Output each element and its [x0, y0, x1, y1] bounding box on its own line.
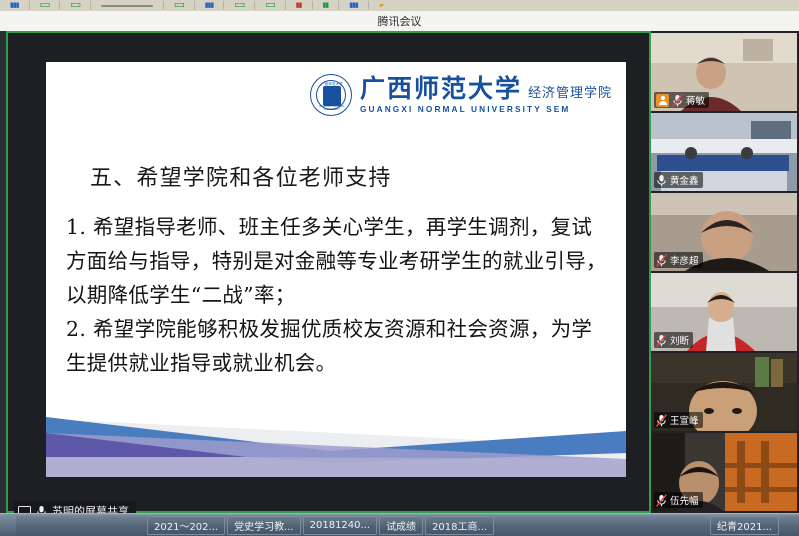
- microphone-muted-icon: [656, 414, 667, 427]
- slide-body: 1. 希望指导老师、班主任多关心学生，再学生调剂，复试方面给与指导，特别是对金融…: [66, 210, 612, 380]
- window-titlebar: 腾讯会议: [0, 11, 799, 31]
- participant-tile[interactable]: 黄金鑫: [651, 113, 797, 191]
- participant-tile[interactable]: 王宣峰: [651, 353, 797, 431]
- participant-tile[interactable]: 蒋敏: [651, 33, 797, 111]
- participant-name: 蒋敏: [686, 93, 705, 107]
- participant-nameplate: 黄金鑫: [654, 172, 703, 188]
- windows-taskbar: 2021～202... 党史学习教... 20181240... 试成绩 201…: [0, 513, 799, 536]
- participant-name: 刘断: [670, 333, 689, 347]
- participant-name: 李彦超: [670, 253, 699, 267]
- excel-icon[interactable]: ⊏⊐: [70, 0, 80, 11]
- screen-share-indicator[interactable]: 苏明的屏幕共享: [14, 501, 136, 513]
- taskbar-item[interactable]: 2018工商...: [425, 516, 494, 535]
- logo-university-name: 广西师范大学: [360, 76, 522, 102]
- taskbar-item[interactable]: 试成绩: [379, 516, 423, 535]
- shared-screen-stage[interactable]: 广西师范大学 GUANGXI NORMAL UNIVERSITY 广西师范大学 …: [6, 31, 651, 513]
- logo-english-name: GUANGXI NORMAL UNIVERSITY SEM: [360, 104, 612, 114]
- app-title: 腾讯会议: [378, 13, 422, 29]
- participant-nameplate: 蒋敏: [654, 92, 709, 108]
- microphone-muted-icon: [672, 94, 683, 107]
- slide-paragraph-1: 1. 希望指导老师、班主任多关心学生，再学生调剂，复试方面给与指导，特别是对金融…: [66, 210, 612, 312]
- participant-nameplate: 李彦超: [654, 252, 703, 268]
- crest-bottom-text: GUANGXI NORMAL UNIVERSITY: [315, 105, 349, 111]
- participant-nameplate: 王宣峰: [654, 412, 703, 428]
- excel-icon[interactable]: ⊏⊐: [174, 0, 184, 11]
- start-button[interactable]: [0, 515, 16, 536]
- chart-icon[interactable]: ▮▮▮: [205, 0, 214, 11]
- microphone-muted-icon: [656, 334, 667, 347]
- university-logo: 广西师范大学 GUANGXI NORMAL UNIVERSITY 广西师范大学 …: [310, 74, 612, 116]
- microphone-muted-icon: [656, 254, 667, 267]
- slide-paragraph-2: 2. 希望学院能够积极发掘优质校友资源和社会资源，为学生提供就业指导或就业机会。: [66, 312, 612, 380]
- background-app-toolbar: ▮▮▮ ⊏⊐ ⊏⊐ ⊏⊐ ▮▮▮ ⊏⊐ ⊏⊐ ▮▮ ▮▮ ▮▮▮ ▰: [0, 0, 799, 11]
- taskbar-item[interactable]: 2021～202...: [147, 516, 225, 535]
- microphone-icon: [656, 174, 667, 187]
- participant-tile[interactable]: 伍先幅: [651, 433, 797, 511]
- screen: ▮▮▮ ⊏⊐ ⊏⊐ ⊏⊐ ▮▮▮ ⊏⊐ ⊏⊐ ▮▮ ▮▮ ▮▮▮ ▰ 腾讯会议: [0, 0, 799, 536]
- screen-share-label: 苏明的屏幕共享: [52, 503, 129, 513]
- taskbar-item[interactable]: 党史学习教...: [227, 516, 301, 535]
- slide-footer-decoration: [46, 393, 626, 477]
- chart-icon[interactable]: ▮▮▮: [349, 0, 358, 11]
- participant-tile[interactable]: 李彦超: [651, 193, 797, 271]
- excel-icon[interactable]: ⊏⊐: [40, 0, 50, 11]
- participant-nameplate: 伍先幅: [654, 492, 703, 508]
- taskbar-item[interactable]: 20181240...: [303, 516, 377, 535]
- ruler-icon[interactable]: [101, 0, 153, 11]
- logo-college-name: 经济管理学院: [528, 82, 612, 101]
- screen-share-icon: [18, 506, 31, 514]
- participant-name: 王宣峰: [670, 413, 699, 427]
- participant-tile[interactable]: 刘断: [651, 273, 797, 351]
- chart-icon[interactable]: ▮▮▮: [10, 0, 19, 11]
- avatar-icon: [656, 94, 669, 107]
- meeting-window: 广西师范大学 GUANGXI NORMAL UNIVERSITY 广西师范大学 …: [0, 31, 799, 513]
- participant-rail: 蒋敏: [651, 31, 799, 513]
- excel-icon[interactable]: ⊏⊐: [265, 0, 275, 11]
- presentation-slide: 广西师范大学 GUANGXI NORMAL UNIVERSITY 广西师范大学 …: [46, 62, 626, 477]
- participant-name: 黄金鑫: [670, 173, 699, 187]
- folder-icon[interactable]: ▰: [379, 0, 383, 11]
- taskbar-item[interactable]: 纪青2021...: [710, 516, 779, 535]
- microphone-muted-icon: [656, 494, 667, 507]
- slide-title: 五、希望学院和各位老师支持: [90, 160, 392, 192]
- university-crest-icon: 广西师范大学 GUANGXI NORMAL UNIVERSITY: [310, 74, 352, 116]
- participant-nameplate: 刘断: [654, 332, 693, 348]
- excel-icon[interactable]: ⊏⊐: [234, 0, 244, 11]
- microphone-icon[interactable]: [36, 505, 47, 514]
- participant-name: 伍先幅: [670, 493, 699, 507]
